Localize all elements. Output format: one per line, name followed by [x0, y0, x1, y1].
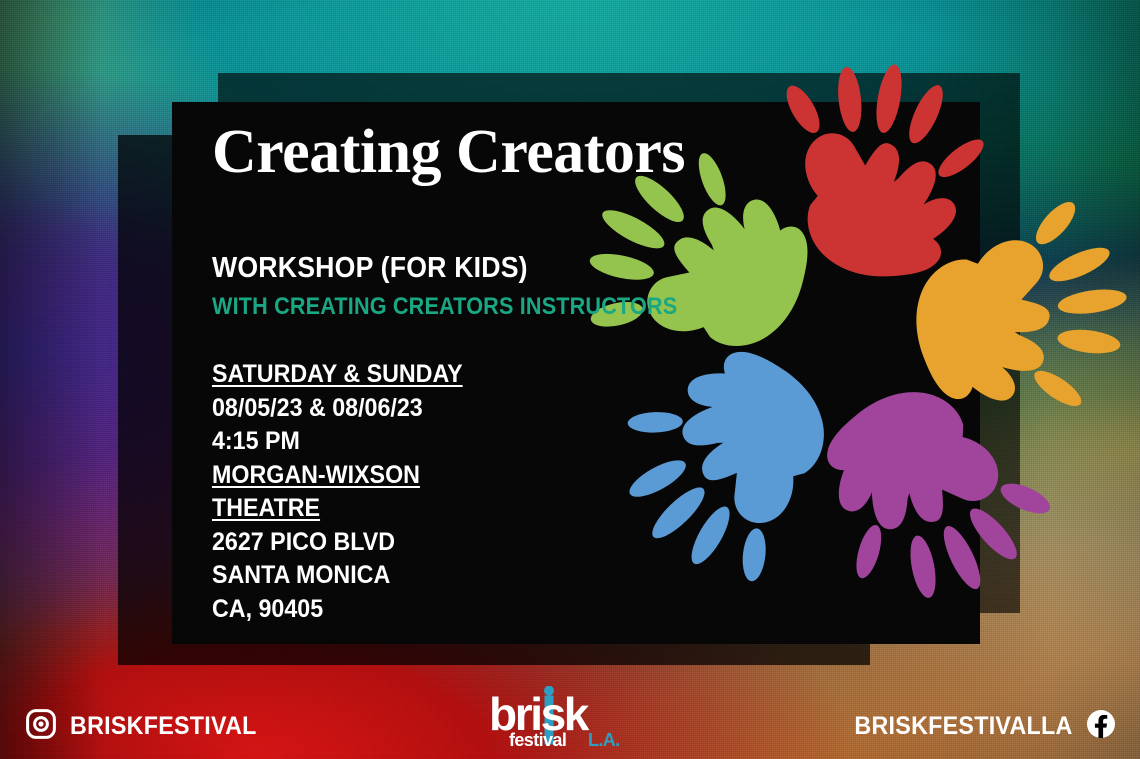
facebook-handle: BRISKFESTIVALLA [855, 712, 1073, 741]
detail-state-zip: CA, 90405 [212, 593, 463, 627]
detail-venue-line2: THEATRE [212, 492, 463, 526]
facebook-icon [1086, 709, 1116, 744]
poster-title: Creating Creators [212, 121, 685, 183]
brisk-festival-logo[interactable]: brisk festival L.A. [487, 686, 632, 750]
logo-word-sub: festival [509, 730, 566, 750]
logo-word-locale: L.A. [588, 730, 620, 750]
event-details-block: SATURDAY & SUNDAY 08/05/23 & 08/06/23 4:… [212, 358, 463, 626]
detail-days: SATURDAY & SUNDAY [212, 358, 463, 392]
instagram-handle: BRISKFESTIVAL [70, 712, 257, 741]
handprint-purple [785, 349, 1075, 638]
instagram-icon [26, 709, 56, 744]
instructors-subtitle: WITH CREATING CREATORS INSTRUCTORS [212, 293, 677, 321]
instagram-footer[interactable]: BRISKFESTIVAL [26, 709, 271, 744]
detail-dates: 08/05/23 & 08/06/23 [212, 392, 463, 426]
facebook-footer[interactable]: BRISKFESTIVALLA [838, 709, 1116, 744]
detail-time: 4:15 PM [212, 425, 463, 459]
detail-city: SANTA MONICA [212, 559, 463, 593]
event-poster: Creating Creators WORKSHOP (FOR KIDS) WI… [0, 0, 1140, 759]
workshop-subtitle: WORKSHOP (FOR KIDS) [212, 252, 528, 285]
detail-street: 2627 PICO BLVD [212, 526, 463, 560]
detail-venue-line1: MORGAN-WIXSON [212, 459, 463, 493]
